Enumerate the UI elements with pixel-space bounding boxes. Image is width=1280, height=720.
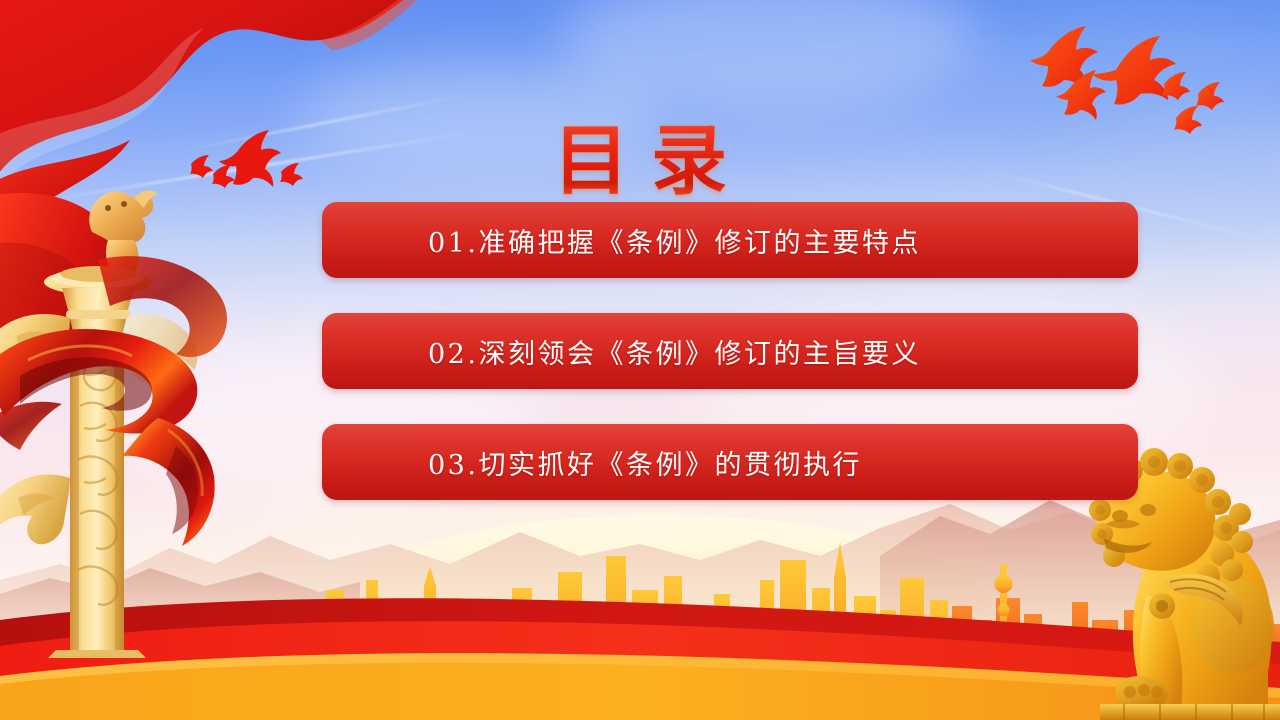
contents-item-label: 03.切实抓好《条例》的贯彻执行 — [322, 443, 862, 482]
presentation-slide: 目录 01.准确把握《条例》修订的主要特点 02.深刻领会《条例》修订的主旨要义… — [0, 0, 1280, 720]
contents-item-02[interactable]: 02.深刻领会《条例》修订的主旨要义 — [322, 313, 1138, 389]
contents-item-01[interactable]: 01.准确把握《条例》修订的主要特点 — [322, 202, 1138, 278]
contents-item-03[interactable]: 03.切实抓好《条例》的贯彻执行 — [322, 424, 1138, 500]
silk-ribbon-icon — [0, 250, 250, 580]
contents-item-label: 01.准确把握《条例》修订的主要特点 — [322, 221, 921, 260]
contents-list: 01.准确把握《条例》修订的主要特点 02.深刻领会《条例》修订的主旨要义 03… — [322, 202, 1138, 500]
page-title: 目录 — [0, 123, 1280, 199]
contents-item-label: 02.深刻领会《条例》修订的主旨要义 — [322, 332, 921, 371]
